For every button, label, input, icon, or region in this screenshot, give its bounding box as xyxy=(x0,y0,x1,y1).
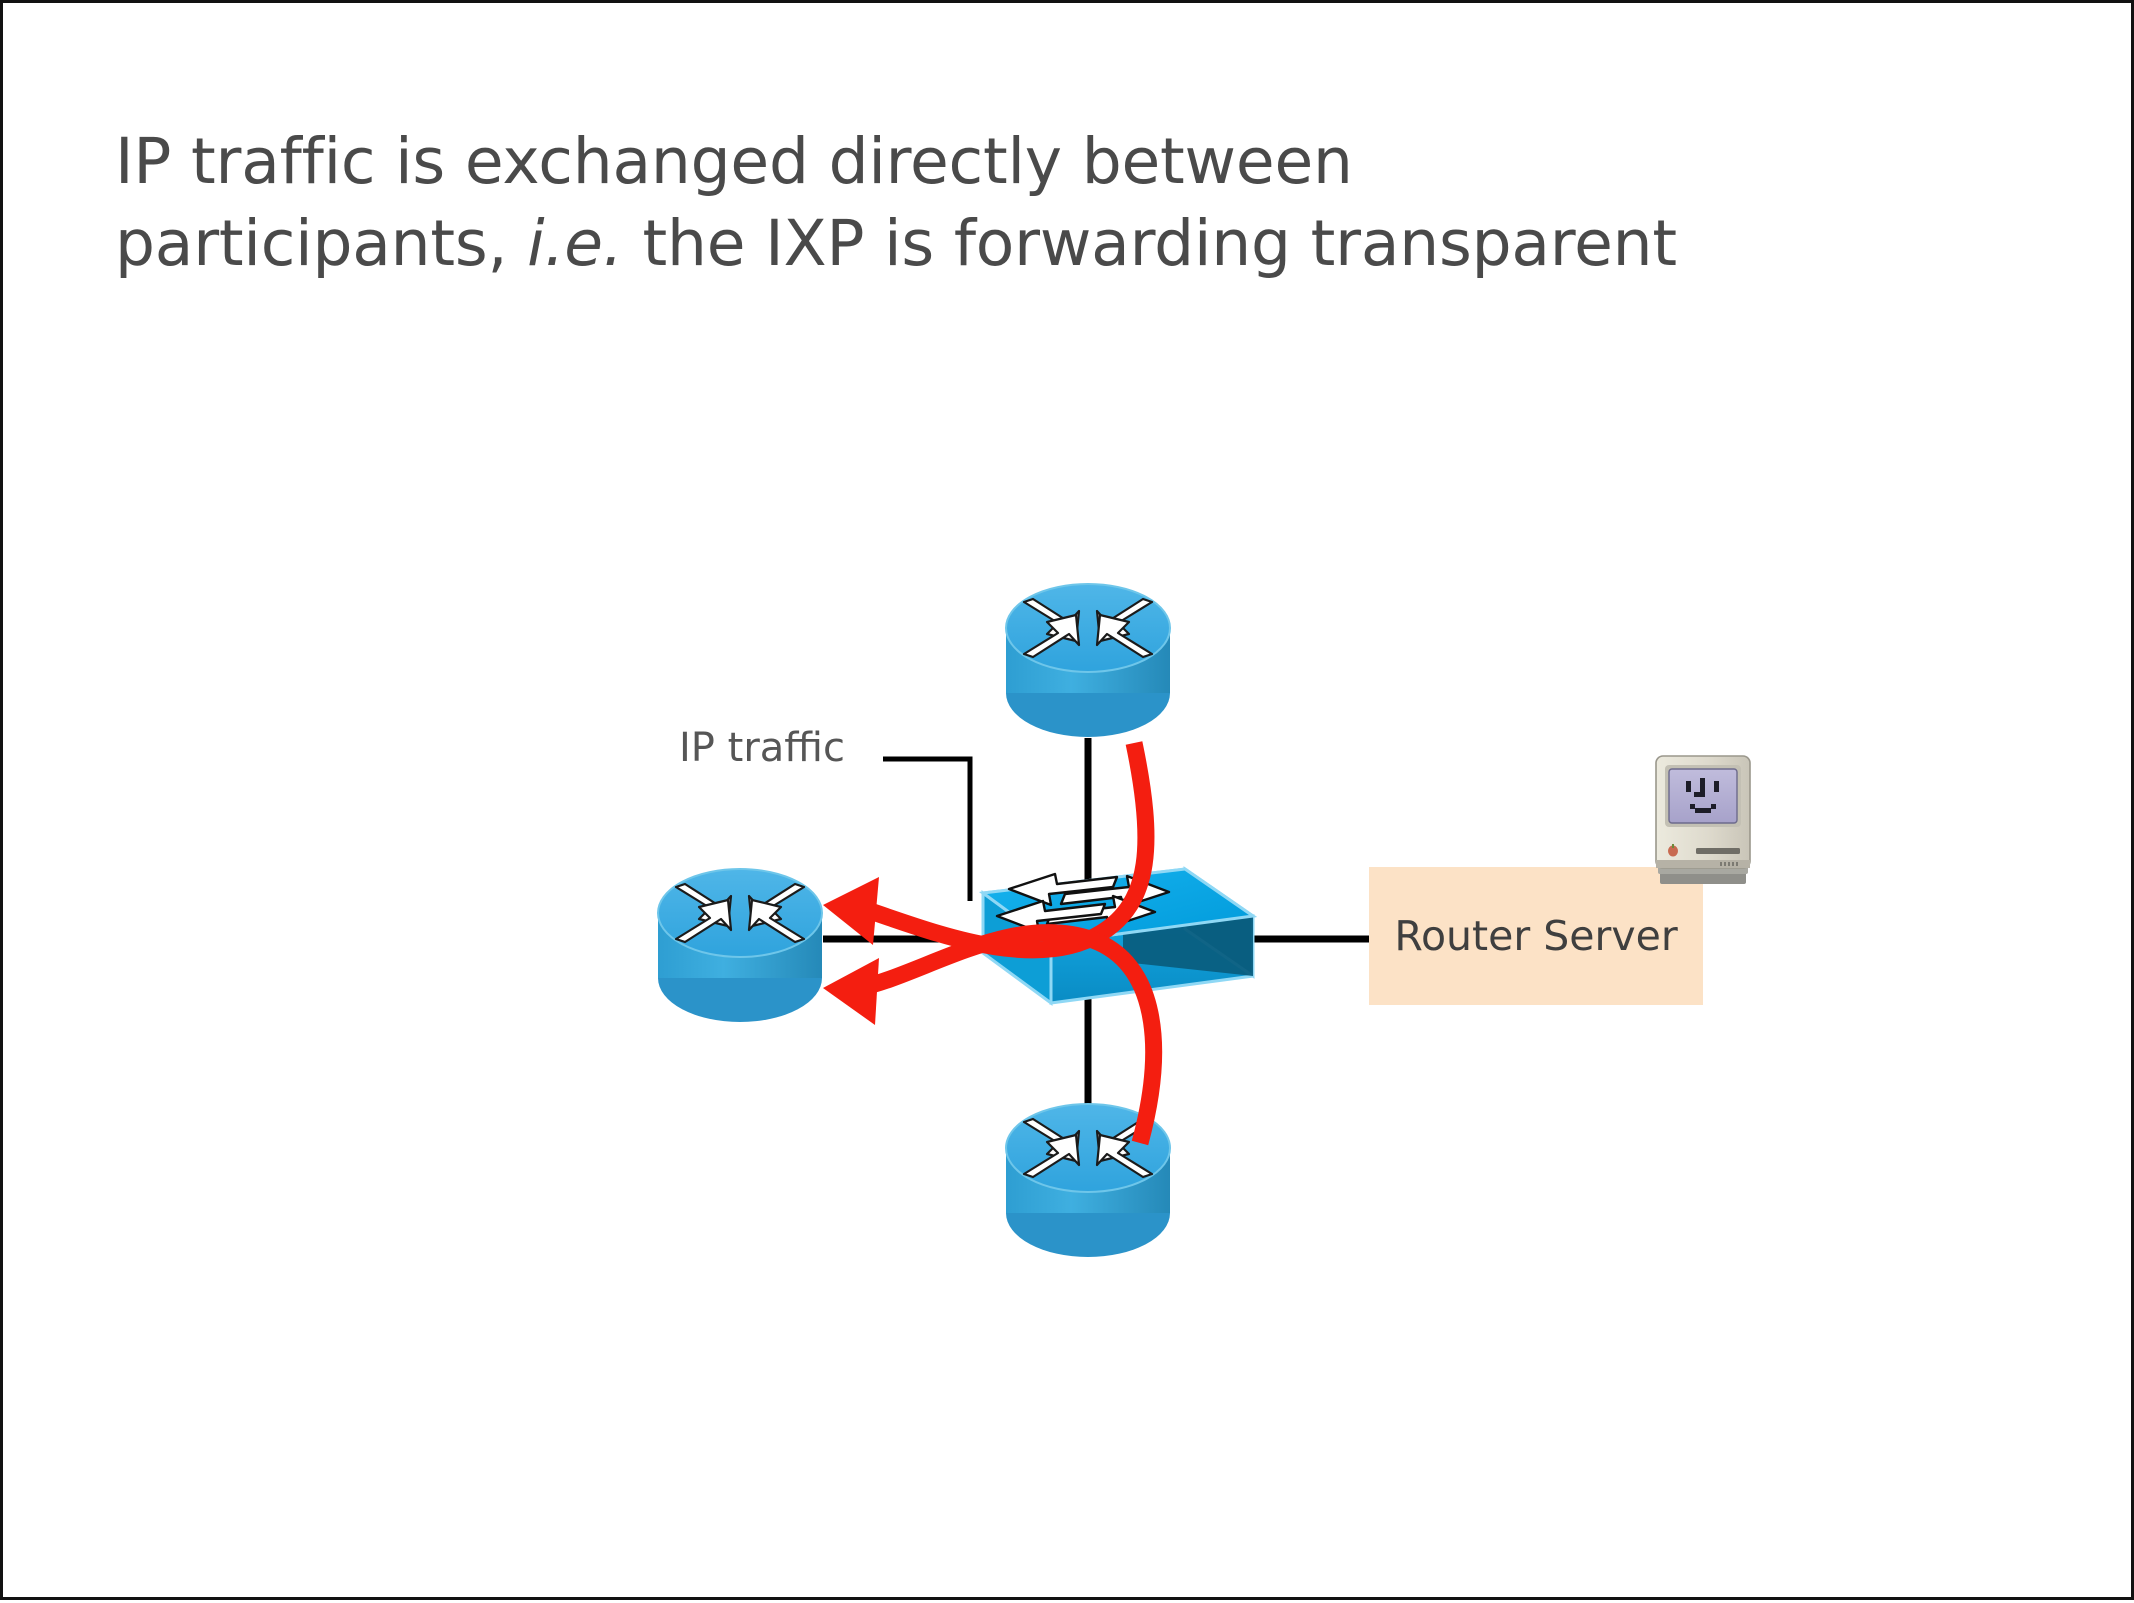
ip-traffic-leader-line xyxy=(883,759,970,901)
diagram-graphics xyxy=(3,3,2134,1603)
ip-traffic-label: IP traffic xyxy=(679,725,845,771)
router-server-label: Router Server xyxy=(1394,912,1677,960)
happy-mac-computer-icon[interactable] xyxy=(1648,752,1758,892)
slide-canvas: IP traffic is exchanged directly between… xyxy=(0,0,2134,1600)
ip-traffic-arrows xyxy=(823,743,1154,1143)
router-icon-left[interactable] xyxy=(658,869,822,1022)
network-diagram: Router Server IP traffic xyxy=(3,3,2134,1603)
router-icon-top[interactable] xyxy=(1006,584,1170,737)
